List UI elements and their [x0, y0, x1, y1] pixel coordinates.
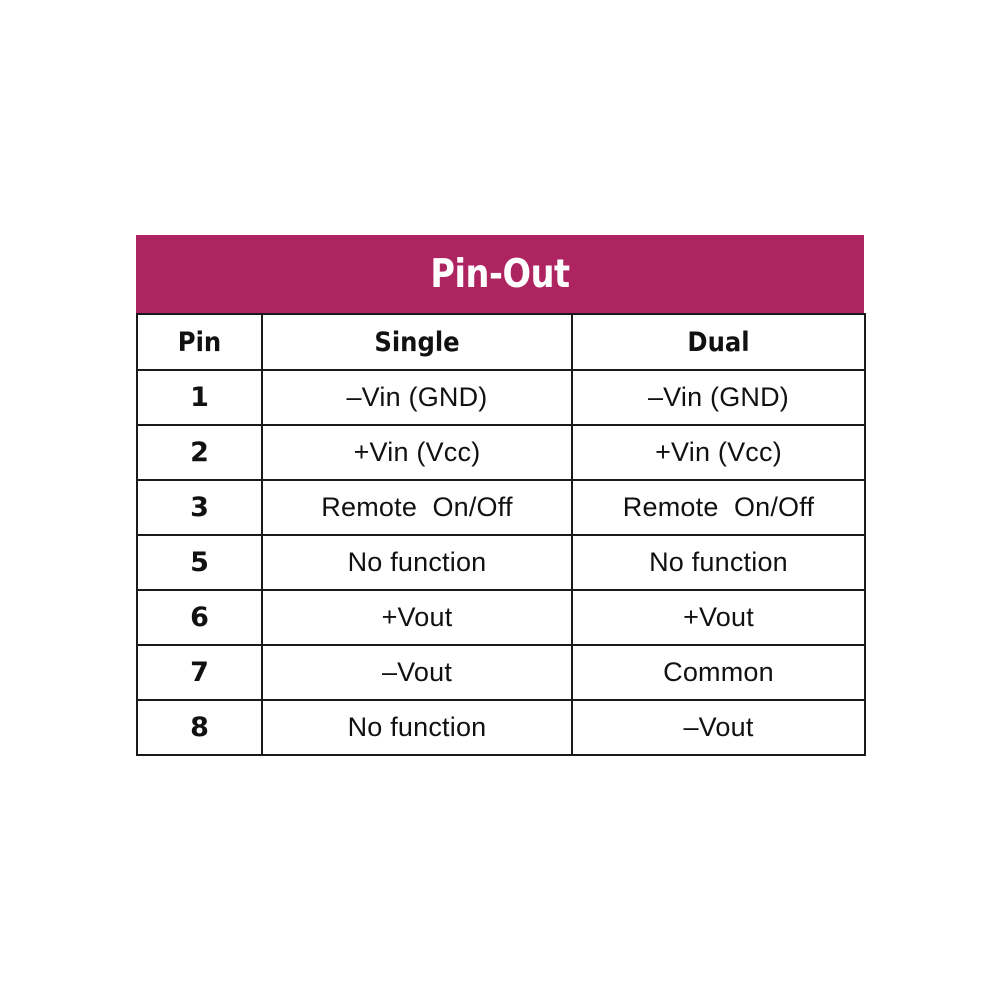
cell-dual: No function	[572, 535, 865, 590]
cell-single: –Vout	[262, 645, 572, 700]
table-row: 7 –Vout Common	[137, 645, 865, 700]
cell-pin: 2	[137, 425, 262, 480]
cell-single: Remote On/Off	[262, 480, 572, 535]
table-row: 5 No function No function	[137, 535, 865, 590]
pin-out-table: Pin-Out Pin Single Dual 1 –Vin (GND) –Vi	[136, 235, 864, 756]
table-row: 3 Remote On/Off Remote On/Off	[137, 480, 865, 535]
cell-dual: –Vout	[572, 700, 865, 755]
cell-pin: 8	[137, 700, 262, 755]
table-row: 6 +Vout +Vout	[137, 590, 865, 645]
table-title: Pin-Out	[430, 255, 569, 294]
page-root: Pin-Out Pin Single Dual 1 –Vin (GND) –Vi	[0, 0, 1000, 1000]
cell-single: +Vin (Vcc)	[262, 425, 572, 480]
table-header: Pin Single Dual	[137, 314, 865, 370]
cell-single: No function	[262, 700, 572, 755]
cell-single: +Vout	[262, 590, 572, 645]
cell-dual: +Vin (Vcc)	[572, 425, 865, 480]
cell-single: No function	[262, 535, 572, 590]
cell-pin: 3	[137, 480, 262, 535]
table-row: 1 –Vin (GND) –Vin (GND)	[137, 370, 865, 425]
table-row: 8 No function –Vout	[137, 700, 865, 755]
table-header-row: Pin Single Dual	[137, 314, 865, 370]
cell-dual: Remote On/Off	[572, 480, 865, 535]
cell-pin: 1	[137, 370, 262, 425]
column-header-dual: Dual	[587, 314, 851, 370]
cell-pin: 7	[137, 645, 262, 700]
cell-pin: 5	[137, 535, 262, 590]
cell-single: –Vin (GND)	[262, 370, 572, 425]
cell-dual: Common	[572, 645, 865, 700]
column-header-pin: Pin	[143, 314, 256, 370]
cell-dual: –Vin (GND)	[572, 370, 865, 425]
column-header-single: Single	[278, 314, 557, 370]
table-title-banner: Pin-Out	[136, 235, 864, 313]
table-body: 1 –Vin (GND) –Vin (GND) 2 +Vin (Vcc) +Vi…	[137, 370, 865, 755]
pin-out-data-table: Pin Single Dual 1 –Vin (GND) –Vin (GND) …	[136, 313, 866, 756]
table-row: 2 +Vin (Vcc) +Vin (Vcc)	[137, 425, 865, 480]
cell-pin: 6	[137, 590, 262, 645]
cell-dual: +Vout	[572, 590, 865, 645]
